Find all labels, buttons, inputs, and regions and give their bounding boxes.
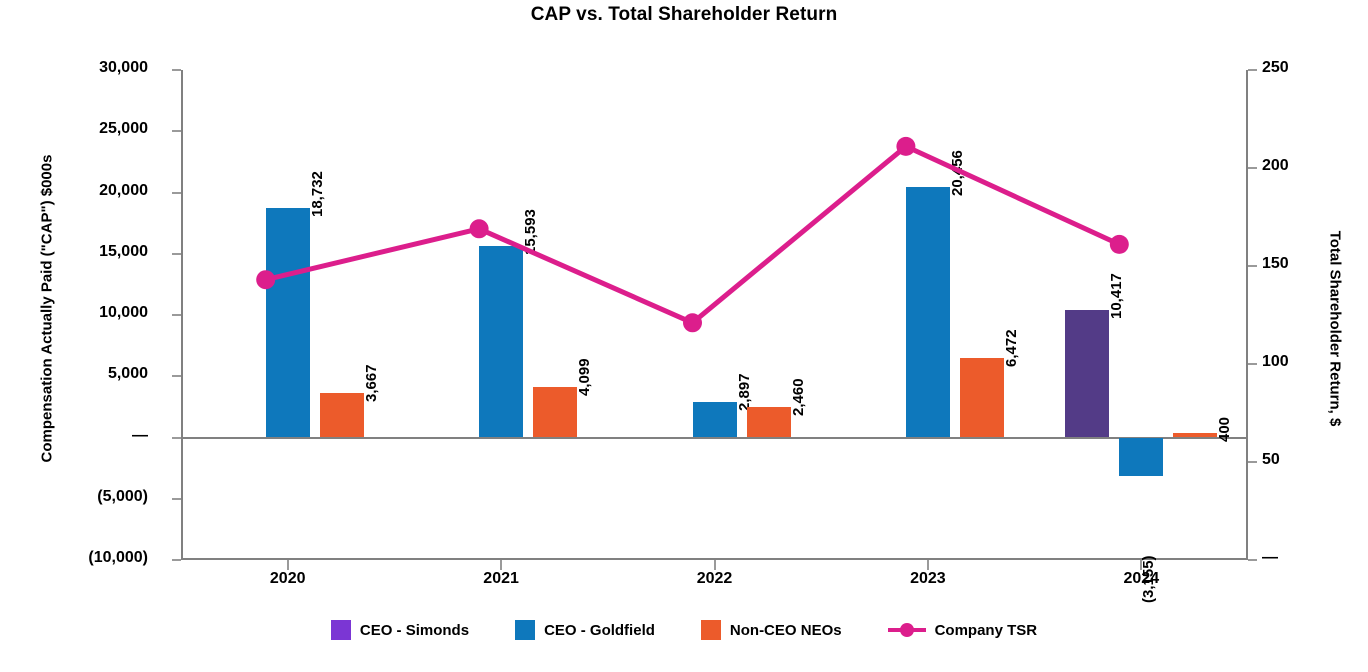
y-axis-left-tick-label: — xyxy=(132,427,148,445)
plot-area: 18,7323,66715,5934,0992,8972,46020,4566,… xyxy=(181,70,1248,560)
x-axis-label-2020: 2020 xyxy=(228,570,348,588)
y-axis-right-tick-label: 100 xyxy=(1262,353,1289,371)
y-axis-left-tick-label: 20,000 xyxy=(99,182,148,200)
legend-swatch-icon xyxy=(515,620,535,640)
tsr-data-point-2021 xyxy=(470,219,489,238)
legend-line-marker-icon xyxy=(888,620,926,640)
legend-label: CEO - Simonds xyxy=(360,622,469,639)
tsr-data-point-2020 xyxy=(256,270,275,289)
x-axis-label-2024: 2024 xyxy=(1081,570,1201,588)
y-axis-left-tick-mark xyxy=(172,130,181,132)
tsr-data-point-2024 xyxy=(1110,235,1129,254)
legend-item-ceo-simonds[interactable]: CEO - Simonds xyxy=(331,620,469,640)
x-axis-tick-mark xyxy=(714,560,716,570)
y-axis-left-tick-label: 10,000 xyxy=(99,304,148,322)
y-axis-right-tick-mark xyxy=(1248,167,1257,169)
legend-label: CEO - Goldfield xyxy=(544,622,655,639)
x-axis-label-2022: 2022 xyxy=(655,570,775,588)
x-axis-tick-mark xyxy=(1140,560,1142,570)
y-axis-right-tick-mark xyxy=(1248,363,1257,365)
y-axis-right-tick-label: 50 xyxy=(1262,451,1280,469)
y-axis-right-tick-mark xyxy=(1248,265,1257,267)
y-axis-left-tick-label: 5,000 xyxy=(108,365,148,383)
y-axis-left-tick-mark xyxy=(172,253,181,255)
chart-canvas: CAP vs. Total Shareholder Return Compens… xyxy=(0,0,1368,672)
chart-legend: CEO - SimondsCEO - GoldfieldNon-CEO NEOs… xyxy=(0,620,1368,640)
y-axis-right-tick-mark xyxy=(1248,559,1257,561)
y-axis-left-tick-mark xyxy=(172,192,181,194)
y-axis-left-tick-mark xyxy=(172,559,181,561)
x-axis-label-2023: 2023 xyxy=(868,570,988,588)
legend-swatch-icon xyxy=(331,620,351,640)
legend-swatch-icon xyxy=(701,620,721,640)
tsr-line-layer xyxy=(181,70,1248,560)
y-axis-right-tick-mark xyxy=(1248,461,1257,463)
y-axis-left-tick-mark xyxy=(172,69,181,71)
y-axis-left-tick-label: 15,000 xyxy=(99,243,148,261)
x-axis-tick-mark xyxy=(927,560,929,570)
legend-item-company-tsr[interactable]: Company TSR xyxy=(888,620,1038,640)
x-axis-tick-mark xyxy=(287,560,289,570)
y-axis-left-tick-mark xyxy=(172,498,181,500)
y-axis-left-tick-label: 30,000 xyxy=(99,59,148,77)
tsr-data-point-2023 xyxy=(896,137,915,156)
y-axis-right-tick-mark xyxy=(1248,69,1257,71)
y-axis-right-tick-label: 250 xyxy=(1262,59,1289,77)
legend-item-ceo-goldfield[interactable]: CEO - Goldfield xyxy=(515,620,655,640)
legend-label: Company TSR xyxy=(935,622,1038,639)
y-axis-right-tick-label: — xyxy=(1262,549,1278,567)
y-axis-right-tick-label: 150 xyxy=(1262,255,1289,273)
y-axis-left-tick-mark xyxy=(172,437,181,439)
y-axis-left-tick-mark xyxy=(172,375,181,377)
x-axis-label-2021: 2021 xyxy=(441,570,561,588)
y-axis-left-tick-label: 25,000 xyxy=(99,120,148,138)
y-axis-left-tick-mark xyxy=(172,314,181,316)
x-axis-tick-mark xyxy=(500,560,502,570)
y-axis-left-tick-label: (5,000) xyxy=(97,488,148,506)
chart-title: CAP vs. Total Shareholder Return xyxy=(0,4,1368,26)
y-axis-left-tick-label: (10,000) xyxy=(88,549,148,567)
y-axis-right-tick-label: 200 xyxy=(1262,157,1289,175)
y-axis-right-tick-labels: 25020015010050— xyxy=(1248,0,1368,672)
y-axis-left-tick-labels: 30,00025,00020,00015,00010,0005,000—(5,0… xyxy=(0,0,160,672)
legend-label: Non-CEO NEOs xyxy=(730,622,842,639)
tsr-line-path xyxy=(266,146,1120,322)
tsr-data-point-2022 xyxy=(683,313,702,332)
legend-item-non-ceo-neos[interactable]: Non-CEO NEOs xyxy=(701,620,842,640)
